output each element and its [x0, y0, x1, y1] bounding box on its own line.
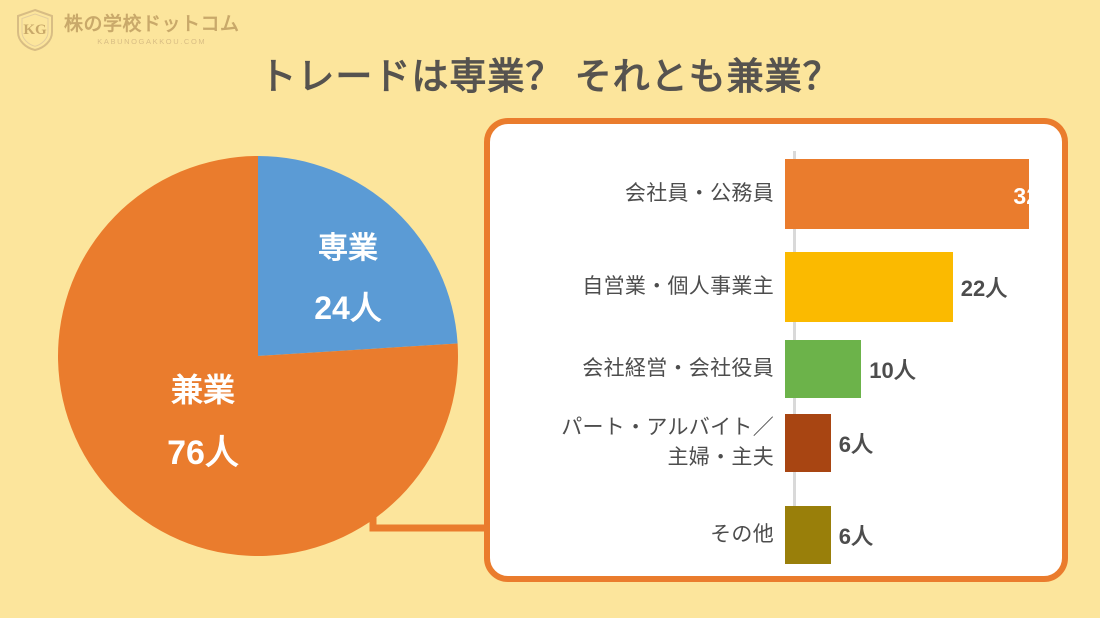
bar-row: 会社員・公務員32人 [490, 159, 1074, 229]
pie-slice-value-sengyou: 24人 [273, 283, 423, 329]
bar-category-label: 会社員・公務員 [490, 179, 785, 209]
bar-rect [785, 340, 861, 398]
bar-value-label: 6人 [839, 427, 873, 459]
pie-slice-label-kengyou: 兼業 [128, 365, 278, 411]
occupation-breakdown-panel: 会社員・公務員32人自営業・個人事業主22人会社経営・会社役員10人パート・アル… [484, 118, 1068, 582]
bar-value-label: 22人 [961, 271, 1007, 303]
bar-rect [785, 506, 831, 564]
logo-wordmark: 株の学校ドットコム KABUNOGAKKOU.COM [64, 15, 240, 46]
bar-category-label: 自営業・個人事業主 [490, 272, 785, 302]
bar-chart: 会社員・公務員32人自営業・個人事業主22人会社経営・会社役員10人パート・アル… [490, 124, 1074, 588]
pie-slice-value-kengyou: 76人 [128, 425, 278, 474]
bar-track: 22人 [785, 252, 1074, 322]
pie-slice-label-sengyou: 専業 [273, 223, 423, 267]
bar-value-label: 6人 [839, 519, 873, 551]
bar-category-label: その他 [490, 520, 785, 550]
bar-rect [785, 414, 831, 472]
bar-row: 自営業・個人事業主22人 [490, 252, 1074, 322]
bar-track: 6人 [785, 414, 1074, 472]
callout-connector-line [362, 470, 502, 550]
bar-rect [785, 252, 953, 322]
bar-rect [785, 159, 1029, 229]
bar-value-label: 10人 [869, 353, 915, 385]
bar-row: その他6人 [490, 506, 1074, 564]
bar-track: 10人 [785, 340, 1074, 398]
bar-track: 32人 [785, 159, 1074, 229]
bar-row: パート・アルバイト／ 主婦・主夫6人 [490, 414, 1074, 472]
svg-text:KG: KG [23, 22, 47, 38]
bar-value-label: 32人 [1013, 177, 1062, 211]
bar-category-label: 会社経営・会社役員 [490, 354, 785, 384]
page-title: トレードは専業？ それとも兼業？ [0, 46, 1100, 100]
bar-category-label: パート・アルバイト／ 主婦・主夫 [490, 413, 785, 473]
logo-url: KABUNOGAKKOU.COM [64, 38, 240, 46]
logo-name: 株の学校ドットコム [64, 15, 240, 34]
bar-row: 会社経営・会社役員10人 [490, 340, 1074, 398]
bar-track: 6人 [785, 506, 1074, 564]
